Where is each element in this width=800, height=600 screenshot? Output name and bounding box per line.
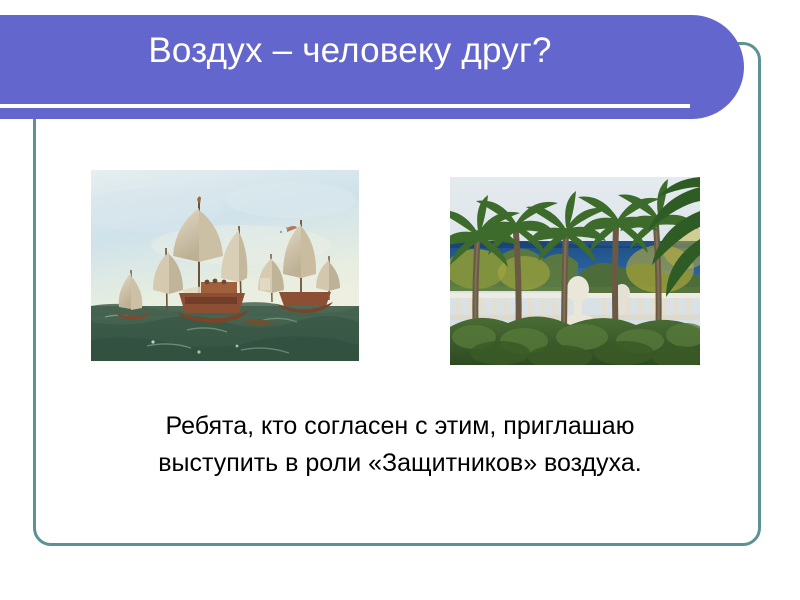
sailing-ships-illustration xyxy=(91,170,359,361)
body-paragraph: Ребята, кто согласен с этим, приглашаю в… xyxy=(60,408,740,482)
title-divider xyxy=(0,104,690,108)
page-title: Воздух – человеку друг? xyxy=(0,31,700,71)
slide: Воздух – человеку друг? xyxy=(0,0,800,600)
body-line-1: Ребята, кто согласен с этим, приглашаю xyxy=(60,408,740,445)
title-banner: Воздух – человеку друг? xyxy=(0,15,744,119)
body-line-2: выступить в роли «Защитников» воздуха. xyxy=(60,445,740,482)
palm-terrace-illustration xyxy=(450,177,700,365)
image-sailing-ships-painting xyxy=(91,170,359,361)
image-palm-terrace-photo xyxy=(450,177,700,365)
